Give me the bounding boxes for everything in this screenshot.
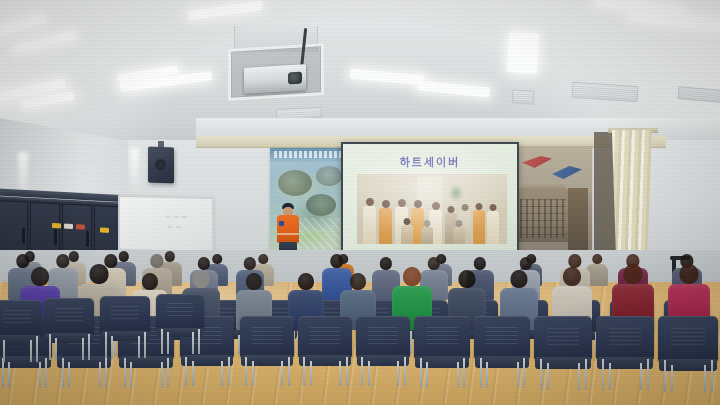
audience-head [330, 254, 343, 268]
chair-backrest [534, 316, 592, 360]
locker-handle[interactable] [54, 229, 57, 245]
person-head [490, 204, 497, 211]
chair-leg [404, 357, 406, 386]
chair-leg [339, 361, 341, 386]
audience-head [298, 273, 314, 290]
chair-leg [8, 362, 10, 388]
projection-screen-frame: 하트세이버 [341, 142, 519, 254]
chair-leg [185, 357, 187, 386]
chair-seat [415, 356, 469, 368]
chair-leg [420, 358, 422, 388]
wall-speaker [148, 147, 174, 184]
person-head [456, 220, 463, 227]
chair-leg [585, 359, 587, 390]
chair-leg [671, 365, 673, 392]
chair-leg [49, 334, 51, 360]
audience-head [624, 264, 643, 284]
slide-photo-person [401, 218, 413, 244]
chair-leg [609, 363, 611, 390]
ceiling-air-vent [512, 89, 535, 104]
chair-leg [167, 358, 169, 388]
chair-leg [221, 361, 223, 386]
person-head [448, 206, 455, 213]
chair-leg [68, 362, 70, 388]
chair[interactable] [100, 296, 150, 358]
chair-backrest [240, 316, 294, 358]
chair-leg [39, 362, 41, 388]
audience-head [380, 257, 392, 270]
person-head [462, 204, 469, 211]
chair-seat [357, 355, 409, 366]
whiteboard: ▭ ▭ ▭ ▭ ▭ [118, 195, 214, 253]
chair-backrest [100, 296, 150, 333]
audience-head [90, 264, 109, 284]
chair-seat [0, 335, 41, 345]
wall-corner-highlight [130, 148, 139, 194]
locker-label-sticker [64, 224, 73, 229]
chair-leg [3, 340, 5, 362]
audience-head [563, 267, 581, 286]
chair-leg [397, 361, 399, 386]
right-wall-mural [508, 146, 592, 258]
chair-backrest [658, 316, 718, 362]
chair-leg [647, 359, 649, 390]
chair-leg [124, 358, 126, 388]
audience-head [150, 254, 163, 268]
slide-title: 하트세이버 [343, 154, 517, 170]
audience-head [592, 254, 602, 264]
whiteboard-writing: ▭ ▭ [168, 224, 182, 231]
presenter-reflective-stripe [277, 233, 299, 235]
chair-leg [517, 362, 519, 388]
chair-leg [578, 363, 580, 390]
audience-head [510, 270, 527, 288]
chair-leg [303, 357, 305, 386]
chair-leg [426, 362, 428, 388]
chair-leg [36, 336, 38, 362]
chair-leg [144, 332, 146, 358]
person-head [432, 202, 440, 210]
presenter-uniform [277, 215, 299, 243]
chair-leg [602, 359, 604, 390]
locker-handle[interactable] [22, 227, 25, 243]
chair[interactable] [240, 316, 294, 386]
chair-seat [597, 357, 653, 369]
chair-seat [659, 359, 717, 371]
chair-leg [480, 358, 482, 388]
poster-photo-circle [278, 170, 312, 196]
chair-leg [664, 360, 666, 392]
chair-backrest [596, 316, 654, 360]
chair-leg [361, 357, 363, 386]
audience-head [246, 273, 262, 290]
person-body [487, 211, 499, 244]
audience-head [16, 254, 29, 268]
person-head [366, 198, 374, 206]
chair-leg [88, 334, 90, 360]
audience-head [350, 273, 366, 290]
chair[interactable] [596, 316, 654, 390]
audience-head [403, 267, 421, 286]
person-body [473, 210, 485, 244]
slide-photo-person [379, 200, 392, 244]
person-body [379, 208, 392, 244]
chair-leg [540, 359, 542, 390]
chair-leg [711, 360, 713, 392]
chair[interactable] [414, 316, 470, 388]
chair-seat [45, 333, 93, 343]
chair-backrest [356, 316, 410, 358]
projection-screen: 하트세이버 [343, 144, 517, 252]
chair-leg [105, 332, 107, 358]
whiteboard-writing: ▭ ▭ ▭ [166, 214, 188, 222]
locker-label-sticker [52, 223, 61, 228]
chair-backrest [298, 316, 352, 358]
chair[interactable] [658, 316, 718, 392]
mural-building [517, 190, 569, 242]
chair-leg [130, 362, 132, 388]
chair-leg [228, 357, 230, 386]
chair-backrest [0, 300, 42, 337]
room-photo-scene: ▭ ▭ ▭ ▭ ▭ 하트세이버 [0, 0, 720, 405]
person-body [401, 225, 413, 244]
locker-label-sticker [100, 227, 109, 232]
chair-leg [704, 365, 706, 392]
chair-leg [310, 361, 312, 386]
chair-leg [2, 358, 4, 388]
chair-leg [252, 361, 254, 386]
chair-seat [535, 357, 591, 369]
person-head [424, 220, 431, 227]
audience-head [192, 270, 209, 288]
chair-leg [547, 363, 549, 390]
person-body [453, 227, 465, 244]
chair-leg [368, 361, 370, 386]
person-head [404, 218, 411, 225]
chair-leg [138, 336, 140, 358]
person-head [398, 199, 406, 207]
projector-lens [288, 72, 302, 85]
chair-leg [288, 357, 290, 386]
mural-side-panel [568, 188, 588, 250]
chair-leg [99, 362, 101, 388]
chair-seat [157, 328, 203, 338]
chair-leg [523, 358, 525, 388]
presenter-badge [279, 221, 284, 226]
chair-leg [281, 361, 283, 386]
chair-leg [486, 362, 488, 388]
chair-leg [198, 329, 200, 354]
chair-backrest [44, 298, 94, 335]
chair-leg [245, 357, 247, 386]
chair-leg [105, 358, 107, 388]
audience-head [680, 264, 699, 284]
audience-head [244, 257, 256, 270]
chair-backrest [156, 294, 204, 330]
chair-leg [640, 363, 642, 390]
person-body [421, 227, 433, 244]
chair[interactable] [474, 316, 530, 388]
chair-leg [82, 338, 84, 360]
slide-photo-person [453, 220, 465, 244]
chair-seat [475, 356, 529, 368]
person-head [476, 203, 483, 210]
audience-head [474, 257, 486, 270]
poster-photo-circle [306, 194, 336, 216]
slide-photo-person [473, 203, 485, 244]
person-head [414, 200, 422, 208]
chair-leg [161, 362, 163, 388]
chair-backrest [474, 316, 530, 359]
audience-head [520, 257, 532, 270]
chair-leg [45, 358, 47, 388]
chair-leg [410, 331, 412, 354]
chair-leg [346, 357, 348, 386]
chair-seat [119, 356, 173, 368]
chair-leg [192, 361, 194, 386]
chair-leg [62, 358, 64, 388]
slide-photo-person [363, 198, 376, 244]
ceiling-light-panel [507, 32, 539, 74]
ceiling-projector [228, 26, 324, 102]
chair-leg [192, 332, 194, 354]
chair[interactable] [356, 316, 410, 386]
locker-handle[interactable] [86, 231, 89, 247]
chair[interactable] [156, 294, 204, 354]
chair-leg [167, 332, 169, 354]
chair[interactable] [534, 316, 592, 390]
chair[interactable] [0, 300, 42, 362]
poster-title-text [274, 151, 345, 158]
person-body [363, 206, 376, 244]
slide-photo-person [421, 220, 433, 244]
chair[interactable] [298, 316, 352, 386]
chair-seat [181, 355, 233, 366]
chair-leg [463, 358, 465, 388]
chair-seat [241, 355, 293, 366]
chair-seat [299, 355, 351, 366]
slide-photo-plant [445, 180, 467, 206]
audience-head [142, 273, 158, 290]
audience-head [568, 254, 581, 268]
poster-photo-circle [316, 166, 342, 186]
audience-head [56, 254, 69, 268]
chair-leg [55, 338, 57, 360]
audience-head [458, 270, 475, 288]
chair-leg [161, 329, 163, 354]
audience-head [31, 267, 49, 286]
ceiling-light-fixture [350, 69, 425, 85]
chair[interactable] [44, 298, 94, 360]
slide-group-photo [357, 174, 507, 244]
chair-leg [111, 336, 113, 358]
audience-head [198, 257, 210, 270]
slide-photo-person [487, 204, 499, 244]
chair-seat [101, 331, 149, 341]
chair-backrest [414, 316, 470, 359]
chair-leg [30, 340, 32, 362]
locker-label-sticker [76, 224, 85, 229]
chair-leg [457, 362, 459, 388]
person-head [382, 200, 390, 208]
